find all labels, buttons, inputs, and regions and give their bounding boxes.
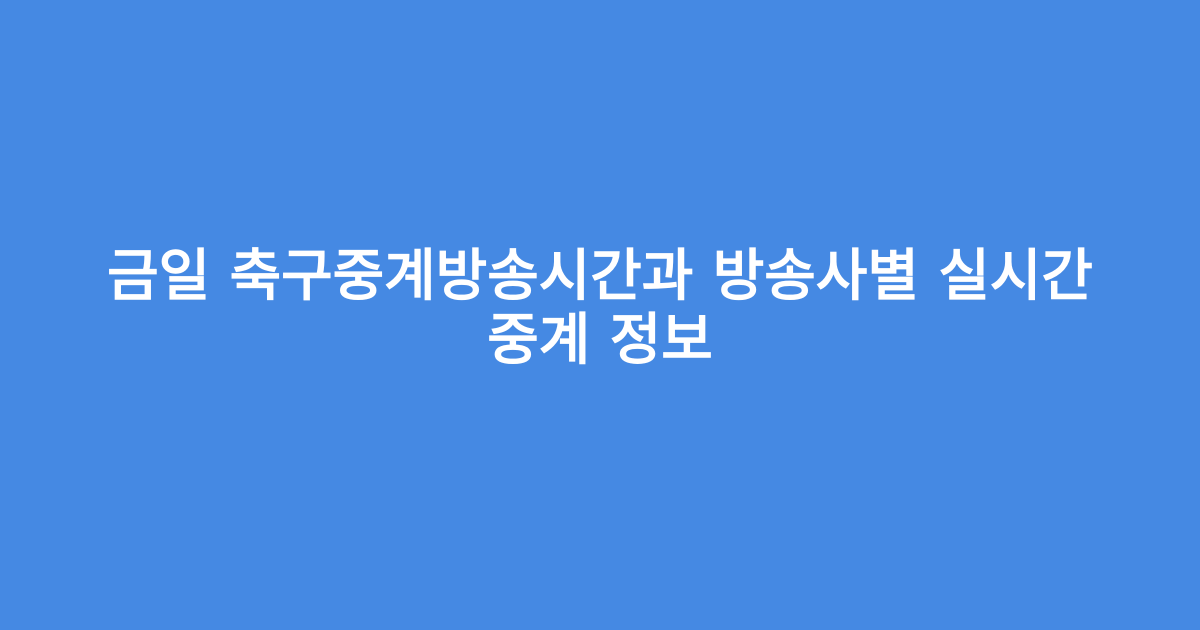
page-title: 금일 축구중계방송시간과 방송사별 실시간 중계 정보: [80, 245, 1120, 373]
title-block: 금일 축구중계방송시간과 방송사별 실시간 중계 정보: [80, 251, 1120, 379]
share-card-banner: 금일 축구중계방송시간과 방송사별 실시간 중계 정보: [0, 0, 1200, 630]
